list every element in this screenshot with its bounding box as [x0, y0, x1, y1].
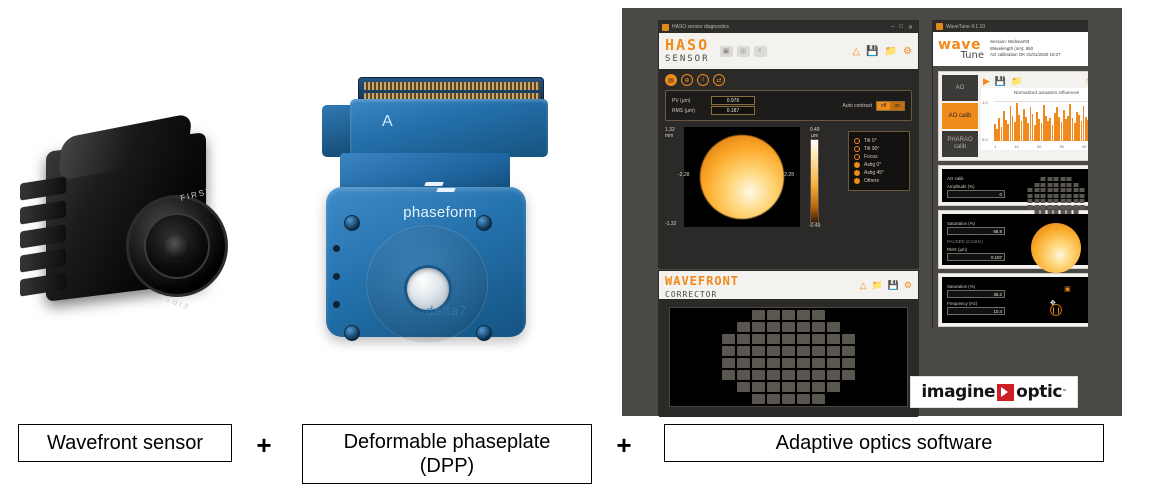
actuator-cell	[767, 322, 780, 332]
actuator-cell	[1054, 177, 1059, 181]
dpp-screw	[344, 325, 360, 341]
actuator-cell	[1067, 188, 1072, 192]
plus-separator-1: +	[252, 430, 276, 461]
actuator-cell	[1041, 205, 1046, 209]
saturation-value: 35.2	[947, 290, 1005, 298]
legend-label: Others	[864, 178, 879, 184]
frequency-value: 10.4	[947, 307, 1005, 315]
actuator-cell	[1034, 199, 1039, 203]
pause-button[interactable]: ❙❙	[1050, 304, 1062, 316]
aberration-legend: Tilt 0° Tilt 90° Focus Astig 0°	[848, 131, 910, 191]
actuator-cell	[782, 358, 795, 368]
save-icon[interactable]: 💾	[995, 76, 1006, 87]
actuator-cell	[1041, 199, 1046, 203]
actuator-cell	[782, 334, 795, 344]
actuator-cell	[797, 322, 810, 332]
actuator-cell	[797, 394, 810, 404]
gear-icon[interactable]: ⚙	[904, 280, 912, 291]
actuator-cell-empty	[827, 310, 840, 320]
y-tick-max: 1.0	[982, 100, 988, 105]
wavelength-value: Wavelength (nm): 650	[990, 46, 1061, 53]
actuator-cell-empty	[737, 310, 750, 320]
tab-ao[interactable]: AO	[942, 75, 978, 101]
acquisition-status: PAUSED (0.04Hz)	[947, 239, 1005, 244]
ao-calib-fields: AO calib Amplitude (%) 0	[947, 173, 1005, 198]
adaptive-optics-software-screenshot: HASO sensor diagnostics – □ ✕ HASO SENSO…	[622, 8, 1122, 416]
actuator-cell-empty	[842, 394, 855, 404]
legend-item[interactable]: Tilt 0°	[854, 138, 904, 144]
actuator-cell	[812, 310, 825, 320]
phaseform-mark-icon	[425, 181, 455, 197]
y-tick-min: 0.0	[982, 137, 988, 142]
actuator-cell	[737, 370, 750, 380]
frequency-label: Frequency (Hz)	[947, 301, 1005, 306]
marker-icon: ▣	[1064, 285, 1071, 293]
actuator-cell	[1034, 205, 1039, 209]
screenshot-root: FIRST FIRST A phaseform delta7	[0, 0, 1156, 501]
metric-row-rms: RMS (µm) 0.187	[672, 106, 835, 115]
actuator-cell-empty	[1080, 183, 1085, 187]
actuator-cell	[752, 334, 765, 344]
open-folder-icon[interactable]: 📁	[871, 280, 882, 291]
actuator-cell	[1034, 194, 1039, 198]
legend-label: Astig 45°	[864, 170, 884, 176]
auto-contrast-off[interactable]: off	[877, 102, 890, 110]
actuator-cell	[752, 370, 765, 380]
plus-separator-2: +	[612, 430, 636, 461]
legend-item[interactable]: Others	[854, 178, 904, 184]
y-axis-unit: mm	[665, 133, 673, 139]
camera-live-inner: Saturation (%) 35.2 Frequency (Hz) 10.4 …	[942, 277, 1112, 323]
haso-header-actions: △ 💾 📁 ⚙	[852, 46, 912, 57]
actuator-cell	[782, 322, 795, 332]
actuator-cell	[842, 370, 855, 380]
actuator-cell	[782, 346, 795, 356]
saturation-label: Saturation (%)	[947, 221, 1005, 226]
session-name: Session: Webinar03	[990, 39, 1061, 46]
haso-logo-secondary: SENSOR	[665, 55, 710, 64]
legend-item[interactable]: Focus	[854, 154, 904, 160]
actuator-cell	[752, 382, 765, 392]
actuator-cell-empty	[1080, 177, 1085, 181]
actuator-cell	[1080, 199, 1085, 203]
imagine-optic-wordmark: imagine optic ™	[921, 382, 1066, 402]
actuator-cell	[1047, 177, 1052, 181]
actuator-cell	[842, 346, 855, 356]
actuator-map-panel[interactable]	[669, 307, 908, 407]
app-icon	[662, 24, 669, 31]
caption-deformable-phaseplate: Deformable phaseplate(DPP)	[302, 424, 592, 484]
actuator-cell	[1047, 205, 1052, 209]
actuator-cell	[1067, 194, 1072, 198]
caption-row: Wavefront sensor + Deformable phaseplate…	[0, 418, 1156, 496]
actuator-cell	[722, 346, 735, 356]
gear-icon[interactable]: ⚙	[903, 46, 912, 57]
caption-text: Wavefront sensor	[47, 431, 203, 455]
actuator-cell	[1034, 183, 1039, 187]
actuator-cell-empty	[1073, 177, 1078, 181]
actuator-cell	[752, 346, 765, 356]
actuator-cell	[827, 322, 840, 332]
haso-header: HASO SENSOR ▣ ◎ ⌕ △ 💾 📁 ⚙	[659, 33, 918, 69]
actuator-cell	[767, 382, 780, 392]
caption-wavefront-sensor: Wavefront sensor	[18, 424, 232, 462]
actuator-cell	[767, 334, 780, 344]
actuator-cell	[1041, 177, 1046, 181]
actuator-cell	[797, 310, 810, 320]
open-folder-icon[interactable]: 📁	[1011, 76, 1022, 87]
wavefront-live-inner: Saturation (%) 66.9 PAUSED (0.04Hz) RMS …	[942, 214, 1112, 265]
actuator-cell	[827, 346, 840, 356]
actuator-cell	[812, 394, 825, 404]
actuator-cell	[767, 394, 780, 404]
tab-pharao-calib[interactable]: PHARAO calib	[942, 131, 978, 157]
pupil-mode-icon[interactable]: ⊕	[681, 74, 693, 86]
rms-value: 0.187	[711, 106, 755, 115]
actuator-cell	[1073, 199, 1078, 203]
actuator-cell-empty	[722, 382, 735, 392]
actuator-cell	[767, 358, 780, 368]
caption-text: Adaptive optics software	[776, 431, 993, 455]
zoom-icon[interactable]: ⌕	[754, 46, 767, 57]
actuator-cell	[1041, 194, 1046, 198]
actuator-cell-empty	[722, 322, 735, 332]
rms-label: RMS (µm)	[947, 247, 1005, 252]
haso-logo-primary: HASO	[665, 36, 709, 54]
caption-line-1: Deformable phaseplate	[344, 431, 551, 453]
colorbar-gradient	[810, 139, 819, 223]
actuator-cell	[827, 334, 840, 344]
actuator-cell	[1073, 183, 1078, 187]
ao-calib-title: AO calib	[947, 176, 1005, 181]
actuator-cell	[1060, 194, 1065, 198]
actuator-cell	[812, 322, 825, 332]
dpp-side-hole	[333, 273, 340, 280]
metric-row-pv: PV (µm) 0.976	[672, 96, 835, 105]
haso-title: HASO sensor diagnostics	[672, 24, 888, 30]
actuator-cell	[767, 370, 780, 380]
rms-value: 0.187	[947, 253, 1005, 261]
actuator-cell	[737, 382, 750, 392]
actuator-cell	[1041, 188, 1046, 192]
logo-word-imagine: imagine	[921, 382, 995, 402]
ao-calib-panel-inner: AO calib Amplitude (%) 0 ❑❑	[942, 169, 1112, 202]
legend-item[interactable]: Astig 0°	[854, 162, 904, 168]
x-tick-label: 40	[1082, 144, 1086, 149]
wavefront-pupil-map	[1031, 223, 1081, 273]
actuator-cell	[1047, 199, 1052, 203]
actuator-cell-empty	[737, 394, 750, 404]
actuator-cell	[842, 358, 855, 368]
sensor-lens-core	[164, 234, 190, 260]
haso-mode-iconbar: ▤ ⊕ i ⇄	[665, 74, 912, 86]
actuator-cell	[1054, 183, 1059, 187]
close-button[interactable]: ✕	[908, 24, 913, 31]
bell-icon[interactable]: △	[860, 280, 867, 291]
app-icon	[936, 23, 943, 30]
actuator-cell	[1060, 205, 1065, 209]
actuator-cell	[1080, 205, 1085, 209]
legend-item[interactable]: Tilt 90°	[854, 146, 904, 152]
wavefront-corrector-logo: WAVEFRONT CORRECTOR	[665, 272, 739, 299]
saturation-label: Saturation (%)	[947, 284, 1005, 289]
actuator-cell	[1060, 199, 1065, 203]
actuator-cell	[1073, 188, 1078, 192]
actuator-cell	[1047, 188, 1052, 192]
actuator-cell	[1028, 188, 1033, 192]
wavefront-corrector-header: WAVEFRONT CORRECTOR △ 📁 💾 ⚙	[659, 271, 918, 299]
x-tick-label: 10	[1014, 144, 1018, 149]
auto-contrast-toggle[interactable]: off on	[876, 101, 905, 111]
actuator-cell	[782, 370, 795, 380]
actuator-cell	[1060, 177, 1065, 181]
haso-sensor-diagnostics-window: HASO sensor diagnostics – □ ✕ HASO SENSO…	[658, 20, 919, 268]
actuator-cell	[737, 322, 750, 332]
actuator-cell	[1054, 188, 1059, 192]
haso-header-tools: ▣ ◎ ⌕	[720, 46, 767, 57]
imagine-optic-logo: imagine optic ™	[910, 376, 1078, 408]
astig45-radio[interactable]	[854, 170, 860, 176]
actuator-cell	[752, 394, 765, 404]
swap-icon[interactable]: ⇄	[713, 74, 725, 86]
session-info: Session: Webinar03 Wavelength (nm): 650 …	[990, 39, 1061, 59]
actuator-cell	[842, 334, 855, 344]
auto-contrast-control: Auto contrast off on	[843, 101, 906, 111]
auto-contrast-label: Auto contrast	[843, 103, 872, 109]
actuator-cell	[1067, 177, 1072, 181]
actuator-cell	[1034, 188, 1039, 192]
wavefront-corrector-window: WAVEFRONT CORRECTOR △ 📁 💾 ⚙	[658, 270, 919, 416]
actuator-cell	[812, 370, 825, 380]
actuator-cell	[782, 382, 795, 392]
actuator-cell-empty	[842, 322, 855, 332]
actuator-cell	[827, 370, 840, 380]
actuator-cell	[1067, 199, 1072, 203]
actuator-cell	[1047, 194, 1052, 198]
actuator-cell	[797, 346, 810, 356]
x-axis-min: -2.28	[678, 172, 689, 178]
actuator-cell	[797, 334, 810, 344]
screenshot-right-strip	[1088, 8, 1122, 416]
calibration-status: AO calibration OK 01/01/2020 19:27	[990, 52, 1061, 59]
y-axis-min: -1.32	[665, 221, 676, 227]
actuator-cell	[1067, 205, 1072, 209]
slopes-mode-icon[interactable]: ▤	[665, 74, 677, 86]
tilt0-radio[interactable]	[854, 138, 860, 144]
phaseform-logo: phaseform	[388, 181, 492, 221]
wavetune-title: WaveTune 4.1.10	[946, 24, 1108, 30]
actuator-cell	[797, 358, 810, 368]
actuator-cell-empty	[1034, 177, 1039, 181]
save-icon[interactable]: 💾	[866, 46, 878, 57]
haso-body: ▤ ⊕ i ⇄ PV (µm) 0.976 RMS (µm) 0.187	[659, 69, 918, 269]
x-tick-label: 1	[994, 144, 996, 149]
tab-ao-calib[interactable]: AO calib	[942, 103, 978, 129]
actuator-cell	[1080, 188, 1085, 192]
connector-pin-row	[364, 82, 540, 90]
actuator-cell	[1054, 205, 1059, 209]
pv-label: PV (µm)	[672, 98, 706, 104]
save-icon[interactable]: 💾	[888, 280, 899, 291]
dpp-screw	[344, 215, 360, 231]
map-x-axis: -2.28 2.28	[678, 172, 794, 178]
auto-contrast-on[interactable]: on	[890, 102, 904, 110]
dpp-model-label: delta7	[426, 303, 467, 318]
haso-logo: HASO SENSOR	[665, 38, 710, 64]
info-icon[interactable]: i	[697, 74, 709, 86]
dpp-screw	[476, 215, 492, 231]
legend-label: Tilt 0°	[864, 138, 877, 144]
actuator-cell	[1073, 205, 1078, 209]
actuator-cell	[722, 334, 735, 344]
actuator-cell	[1073, 194, 1078, 198]
actuator-cell	[752, 358, 765, 368]
legend-label: Focus	[864, 154, 878, 160]
play-icon[interactable]: ▶	[983, 76, 990, 87]
actuator-cell	[1028, 194, 1033, 198]
dpp-side-hole	[333, 245, 340, 252]
actuator-cell	[1060, 188, 1065, 192]
imagine-optic-mark-icon	[997, 384, 1014, 401]
x-tick-label: 30	[1059, 144, 1063, 149]
bell-icon[interactable]: △	[852, 46, 860, 57]
tilt90-radio[interactable]	[854, 146, 860, 152]
wavetune-tabs: AO AO calib PHARAO calib	[942, 75, 978, 157]
actuator-cell-empty	[722, 394, 735, 404]
x-axis-max: 2.28	[784, 172, 794, 178]
actuator-cell	[767, 346, 780, 356]
astig0-radio[interactable]	[854, 162, 860, 168]
actuator-cell	[782, 394, 795, 404]
actuator-cell	[812, 346, 825, 356]
wavefront-sensor-photo: FIRST FIRST	[8, 120, 248, 335]
actuator-cell-empty	[842, 382, 855, 392]
dpp-channel-label: A	[382, 113, 393, 131]
actuator-cell	[797, 382, 810, 392]
actuator-cell	[1060, 183, 1065, 187]
wfc-header-actions: △ 📁 💾 ⚙	[860, 280, 912, 291]
actuator-grid	[722, 310, 855, 404]
actuator-cell	[797, 370, 810, 380]
dpp-head	[350, 99, 548, 157]
actuator-cell	[1054, 199, 1059, 203]
caption-line-2: (DPP)	[420, 455, 474, 477]
haso-metrics-panel: PV (µm) 0.976 RMS (µm) 0.187 Auto contra…	[665, 90, 912, 121]
actuator-cell	[722, 358, 735, 368]
actuator-cell	[812, 382, 825, 392]
map-colorbar: 0.49 µm -0.49	[809, 127, 820, 229]
haso-titlebar: HASO sensor diagnostics – □ ✕	[659, 21, 918, 33]
pv-value: 0.976	[711, 96, 755, 105]
actuator-cell	[1054, 194, 1059, 198]
amplitude-label: Amplitude (%)	[947, 184, 1005, 189]
actuator-cell	[1028, 205, 1033, 209]
x-tick-label: 20	[1037, 144, 1041, 149]
saturation-value: 66.9	[947, 227, 1005, 235]
actuator-cell-empty	[1028, 177, 1033, 181]
trademark-symbol: ™	[1062, 389, 1067, 395]
actuator-cell	[1028, 199, 1033, 203]
actuator-cell-empty	[722, 310, 735, 320]
actuator-cell-empty	[827, 394, 840, 404]
logo-word-optic: optic	[1016, 382, 1062, 402]
legend-label: Tilt 90°	[864, 146, 879, 152]
actuator-cell	[782, 310, 795, 320]
focus-radio[interactable]	[854, 154, 860, 160]
actuator-cell	[722, 370, 735, 380]
open-folder-icon[interactable]: 📁	[885, 46, 897, 57]
others-radio[interactable]	[854, 178, 860, 184]
wfc-logo-secondary: CORRECTOR	[665, 290, 739, 299]
wfc-logo-primary: WAVEFRONT	[665, 274, 739, 288]
actuator-cell	[827, 382, 840, 392]
actuator-cell	[752, 310, 765, 320]
actuator-cell-empty	[1028, 183, 1033, 187]
actuator-cell	[737, 346, 750, 356]
actuator-cell	[1041, 183, 1046, 187]
rms-label: RMS (µm)	[672, 108, 706, 114]
camera-live-fields: Saturation (%) 35.2 Frequency (Hz) 10.4	[947, 281, 1005, 319]
amplitude-value[interactable]: 0	[947, 190, 1005, 198]
caption-adaptive-optics-software: Adaptive optics software	[664, 424, 1104, 462]
actuator-cell	[1047, 183, 1052, 187]
actuator-cell-empty	[842, 310, 855, 320]
actuator-cell	[767, 310, 780, 320]
actuator-cell	[812, 334, 825, 344]
wavetune-logo: wave Tune	[938, 37, 984, 61]
colorbar-min: -0.49	[809, 223, 820, 229]
grid-view-icon[interactable]: ▣	[720, 46, 733, 57]
actuator-cell	[737, 334, 750, 344]
actuator-cell	[737, 358, 750, 368]
actuator-cell	[827, 358, 840, 368]
minimize-button[interactable]: –	[891, 24, 894, 31]
actuator-cell	[1067, 183, 1072, 187]
maximize-button[interactable]: □	[899, 24, 903, 31]
deformable-phaseplate-photo: A phaseform delta7	[300, 75, 568, 405]
target-view-icon[interactable]: ◎	[737, 46, 750, 57]
wavefront-live-fields: Saturation (%) 66.9 PAUSED (0.04Hz) RMS …	[947, 218, 1005, 261]
caption-text: Deformable phaseplate(DPP)	[344, 430, 551, 479]
legend-item[interactable]: Astig 45°	[854, 170, 904, 176]
wavefront-corrector-body	[659, 299, 918, 417]
actuator-cell	[1080, 194, 1085, 198]
legend-label: Astig 0°	[864, 162, 881, 168]
actuator-cell	[752, 322, 765, 332]
dpp-side-hole	[333, 301, 340, 308]
dpp-screw	[476, 325, 492, 341]
actuator-cell	[812, 358, 825, 368]
